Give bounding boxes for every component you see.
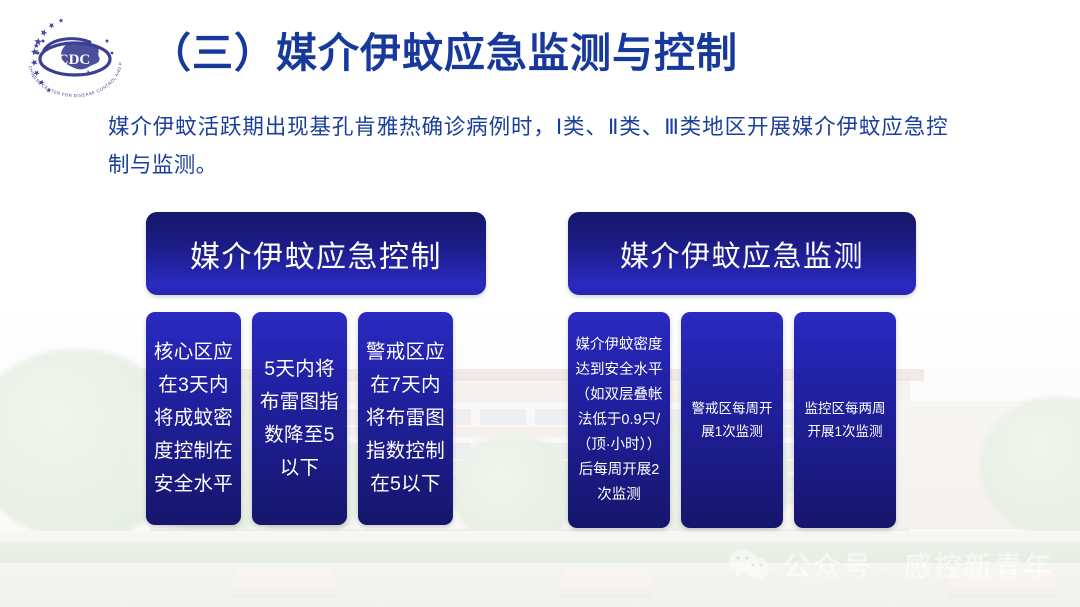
card-surveillance-warning-area: 警戒区每周开展1次监测 <box>681 312 783 528</box>
slide-header: CDC CHINESE CENTER FOR DISEASE CONTROL A… <box>0 0 1080 104</box>
column-header-emergency-control: 媒介伊蚊应急控制 <box>146 212 486 295</box>
china-cdc-logo: CDC CHINESE CENTER FOR DISEASE CONTROL A… <box>14 12 136 102</box>
background-car <box>232 569 336 595</box>
card-text: 监控区每两周开展1次监测 <box>800 397 890 443</box>
card-control-core-area: 核心区应在3天内将成蚊密度控制在安全水平 <box>146 312 241 525</box>
slide-canvas: CDC CHINESE CENTER FOR DISEASE CONTROL A… <box>0 0 1080 607</box>
card-control-warning-area: 警戒区应在7天内将布雷图指数控制在5以下 <box>358 312 453 525</box>
wechat-icon <box>727 547 771 583</box>
background-car <box>560 569 652 595</box>
intro-paragraph: 媒介伊蚊活跃期出现基孔肯雅热确诊病例时，Ⅰ类、Ⅱ类、Ⅲ类地区开展媒介伊蚊应急控制… <box>108 108 948 184</box>
card-surveillance-safe-level: 媒介伊蚊密度达到安全水平（如双层叠帐法低于0.9只/（顶·小时））后每周开展2次… <box>568 312 670 528</box>
logo-cdc-text: CDC <box>58 52 91 68</box>
card-control-breteau-5days: 5天内将布雷图指数降至5以下 <box>252 312 347 525</box>
content-columns: 媒介伊蚊应急控制 核心区应在3天内将成蚊密度控制在安全水平 5天内将布雷图指数降… <box>0 212 1080 542</box>
card-text: 核心区应在3天内将成蚊密度控制在安全水平 <box>152 336 235 501</box>
column-emergency-surveillance: 媒介伊蚊应急监测 媒介伊蚊密度达到安全水平（如双层叠帐法低于0.9只/（顶·小时… <box>568 212 916 528</box>
column-emergency-control: 媒介伊蚊应急控制 核心区应在3天内将成蚊密度控制在安全水平 5天内将布雷图指数降… <box>146 212 486 525</box>
column-header-emergency-surveillance: 媒介伊蚊应急监测 <box>568 212 916 295</box>
watermark: 公众号 · 感控新青年 <box>727 545 1054 585</box>
card-surveillance-monitor-area: 监控区每两周开展1次监测 <box>794 312 896 528</box>
card-text: 警戒区每周开展1次监测 <box>687 397 777 443</box>
page-title: （三）媒介伊蚊应急监测与控制 <box>150 27 738 79</box>
card-group-emergency-surveillance: 媒介伊蚊密度达到安全水平（如双层叠帐法低于0.9只/（顶·小时））后每周开展2次… <box>568 312 916 528</box>
watermark-text: 公众号 · 感控新青年 <box>783 545 1054 585</box>
card-text: 5天内将布雷图指数降至5以下 <box>258 353 341 485</box>
card-text: 警戒区应在7天内将布雷图指数控制在5以下 <box>364 336 447 501</box>
card-text: 媒介伊蚊密度达到安全水平（如双层叠帐法低于0.9只/（顶·小时））后每周开展2次… <box>574 333 664 508</box>
card-group-emergency-control: 核心区应在3天内将成蚊密度控制在安全水平 5天内将布雷图指数降至5以下 警戒区应… <box>146 312 486 525</box>
